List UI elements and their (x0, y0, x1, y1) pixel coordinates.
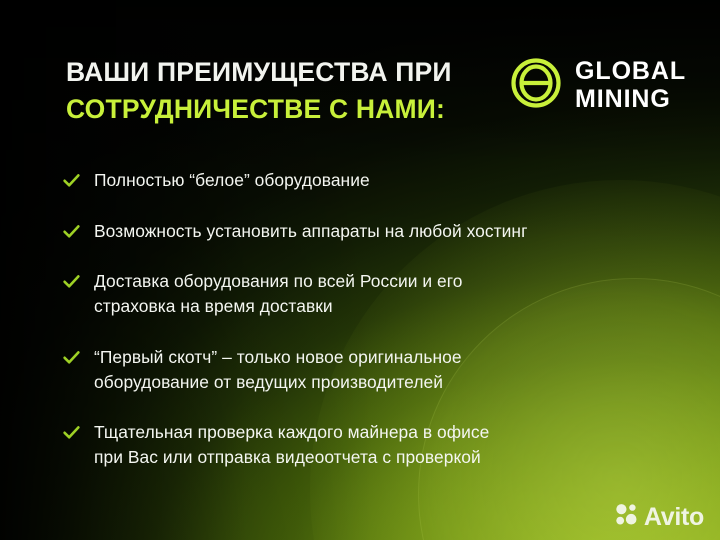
avito-watermark: Avito (615, 502, 704, 532)
check-icon (62, 423, 81, 442)
list-item: Тщательная проверка каждого майнера в оф… (62, 420, 662, 469)
global-mining-circle-icon (510, 57, 562, 114)
check-icon (62, 348, 81, 367)
check-icon (62, 171, 81, 190)
poster-header: ВАШИ ПРЕИМУЩЕСТВА ПРИ СОТРУДНИЧЕСТВЕ С Н… (0, 54, 720, 127)
page-title: ВАШИ ПРЕИМУЩЕСТВА ПРИ СОТРУДНИЧЕСТВЕ С Н… (66, 54, 452, 127)
benefit-text: “Первый скотч” – только новое оригинальн… (94, 345, 462, 394)
brand-lockup: GLOBAL MINING (510, 57, 686, 114)
title-line-primary: ВАШИ ПРЕИМУЩЕСТВА ПРИ (66, 54, 452, 91)
title-line-accent: СОТРУДНИЧЕСТВЕ С НАМИ: (66, 91, 452, 128)
brand-name: GLOBAL MINING (575, 59, 686, 112)
avito-dots-icon (615, 502, 640, 532)
benefits-list: Полностью “белое” оборудование Возможнос… (62, 168, 662, 470)
benefit-text: Возможность установить аппараты на любой… (94, 219, 527, 244)
brand-word-mining: MINING (575, 87, 686, 112)
brand-word-global: GLOBAL (575, 59, 686, 84)
check-icon (62, 272, 81, 291)
promo-poster: ВАШИ ПРЕИМУЩЕСТВА ПРИ СОТРУДНИЧЕСТВЕ С Н… (0, 0, 720, 540)
list-item: Доставка оборудования по всей России и е… (62, 269, 662, 318)
benefit-text: Полностью “белое” оборудование (94, 168, 370, 193)
benefit-text: Доставка оборудования по всей России и е… (94, 269, 463, 318)
avito-label: Avito (644, 505, 704, 530)
list-item: “Первый скотч” – только новое оригинальн… (62, 345, 662, 394)
list-item: Полностью “белое” оборудование (62, 168, 662, 193)
benefit-text: Тщательная проверка каждого майнера в оф… (94, 420, 489, 469)
check-icon (62, 222, 81, 241)
list-item: Возможность установить аппараты на любой… (62, 219, 662, 244)
